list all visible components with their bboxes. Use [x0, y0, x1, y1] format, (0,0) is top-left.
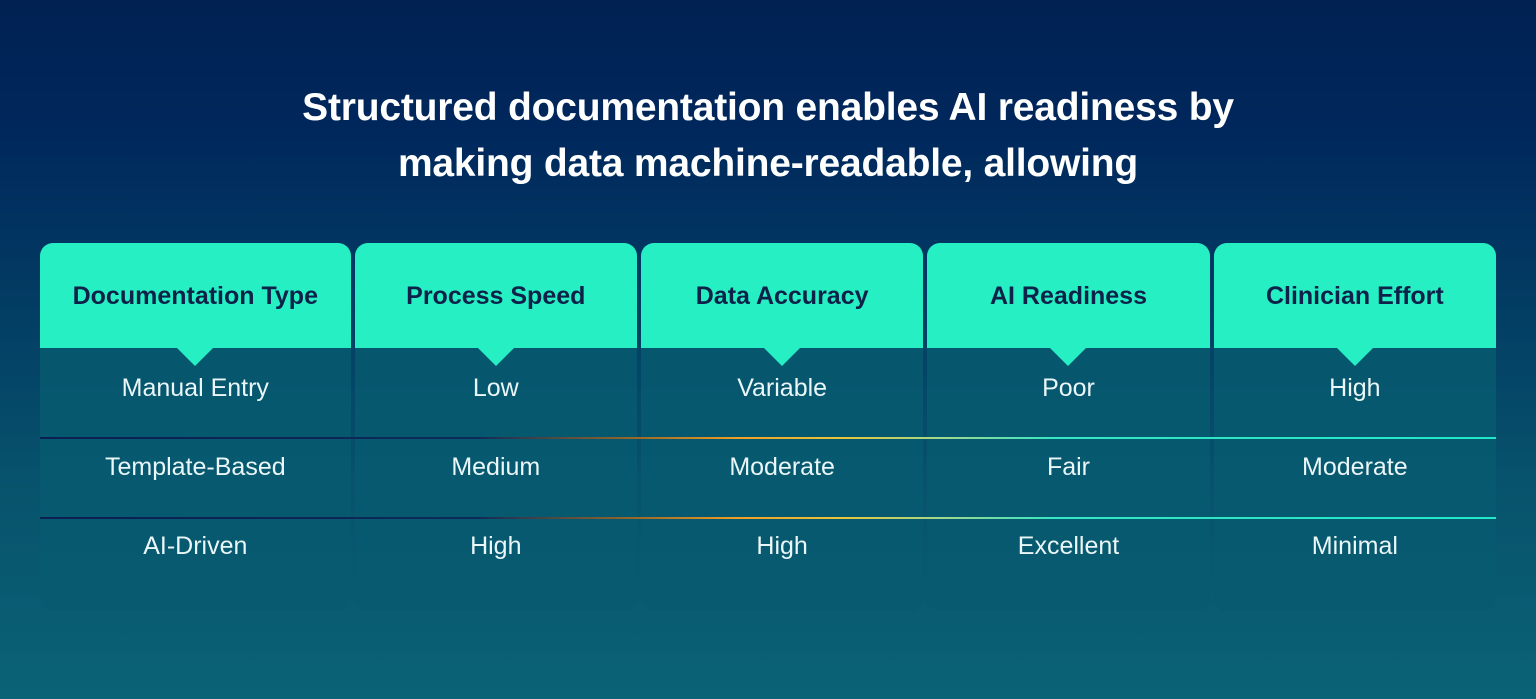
table-header-label: Process Speed [406, 281, 585, 311]
table-cell: Excellent [927, 506, 1209, 611]
table-cell: High [355, 506, 637, 611]
table-header-label: Clinician Effort [1266, 281, 1444, 311]
table-cell: Template-Based [40, 427, 351, 506]
table-cell: High [641, 506, 923, 611]
table-cell: Medium [355, 427, 637, 506]
table-cell: Moderate [1214, 427, 1496, 506]
infographic-canvas: Structured documentation enables AI read… [0, 0, 1536, 699]
table-cell: AI-Driven [40, 506, 351, 611]
table-column-documentation-type: Documentation Type Manual Entry Template… [40, 243, 351, 611]
table-cell-label: Template-Based [105, 452, 286, 482]
table-column-body: Poor Fair Excellent [927, 348, 1209, 611]
page-title-line-1: Structured documentation enables AI read… [0, 80, 1536, 136]
page-title-line-2: making data machine-readable, allowing [0, 136, 1536, 192]
table-cell-label: Fair [1047, 452, 1090, 482]
table-column-body: Low Medium High [355, 348, 637, 611]
table-column-data-accuracy: Data Accuracy Variable Moderate High [641, 243, 923, 611]
table-column-body: High Moderate Minimal [1214, 348, 1496, 611]
table-cell-label: Moderate [729, 452, 835, 482]
table-cell: Moderate [641, 427, 923, 506]
table-cell-label: High [756, 531, 807, 561]
table-header-cell: Data Accuracy [641, 243, 923, 348]
table-header-cell: Process Speed [355, 243, 637, 348]
table-header-label: Documentation Type [73, 281, 318, 311]
table-column-clinician-effort: Clinician Effort High Moderate Minimal [1214, 243, 1496, 611]
table-cell-label: High [1329, 373, 1380, 403]
table-column-body: Manual Entry Template-Based AI-Driven [40, 348, 351, 611]
table-column-process-speed: Process Speed Low Medium High [355, 243, 637, 611]
table-cell-label: Minimal [1312, 531, 1398, 561]
table-header-label: AI Readiness [990, 281, 1147, 311]
table-cell-label: Excellent [1018, 531, 1119, 561]
table-cell-label: High [470, 531, 521, 561]
table-cell-label: Manual Entry [122, 373, 269, 403]
comparison-table: Documentation Type Manual Entry Template… [40, 243, 1496, 611]
table-column-ai-readiness: AI Readiness Poor Fair Excellent [927, 243, 1209, 611]
table-header-cell: Clinician Effort [1214, 243, 1496, 348]
table-header-cell: Documentation Type [40, 243, 351, 348]
table-cell-label: Poor [1042, 373, 1095, 403]
table-cell: Fair [927, 427, 1209, 506]
table-cell-label: Medium [451, 452, 540, 482]
table-header-cell: AI Readiness [927, 243, 1209, 348]
table-header-label: Data Accuracy [696, 281, 869, 311]
table-cell-label: Variable [737, 373, 827, 403]
page-title: Structured documentation enables AI read… [0, 80, 1536, 192]
table-cell-label: Low [473, 373, 519, 403]
table-column-body: Variable Moderate High [641, 348, 923, 611]
table-cell-label: Moderate [1302, 452, 1408, 482]
table-cell: Minimal [1214, 506, 1496, 611]
table-cell-label: AI-Driven [143, 531, 247, 561]
